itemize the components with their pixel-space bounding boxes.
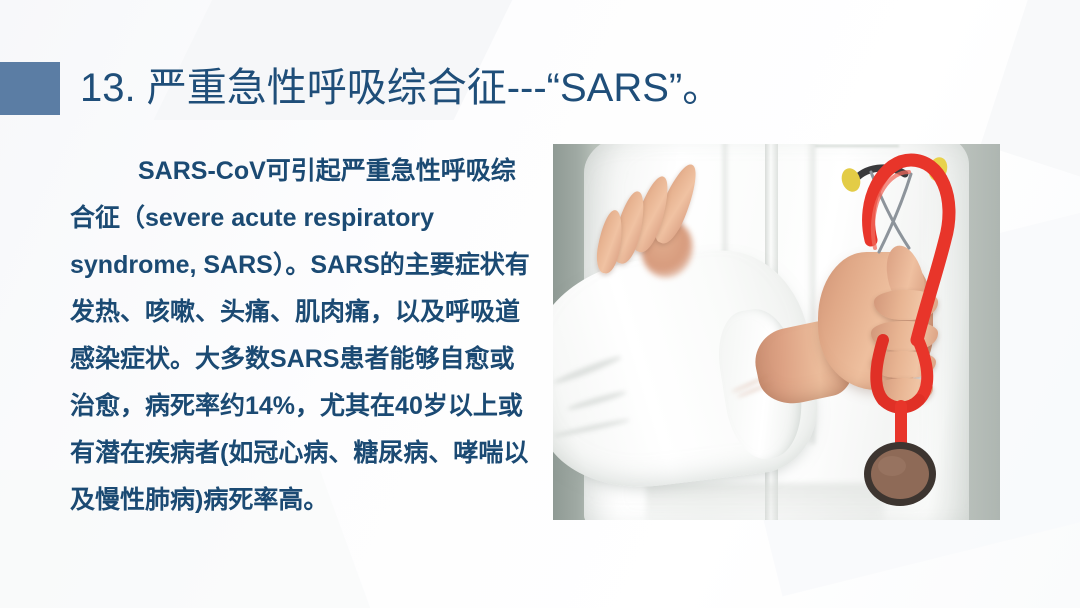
page-title: 13. 严重急性呼吸综合征---“SARS”。 (80, 60, 722, 116)
finger (877, 378, 933, 402)
sleeve-wrinkle (566, 389, 626, 411)
slide-canvas: 13. 严重急性呼吸综合征---“SARS”。 SARS-CoV可引起严重急性呼… (0, 0, 1080, 608)
sleeve-wrinkle (553, 417, 630, 438)
body-paragraph: SARS-CoV可引起严重急性呼吸综合征（severe acute respir… (70, 148, 530, 524)
right-hand-gripping-stethoscope (812, 242, 946, 415)
doctor-photo (553, 144, 1000, 520)
finger (874, 290, 938, 319)
coat-hem-shadow (646, 483, 884, 520)
finger (871, 321, 938, 350)
coat-pocket-edge (815, 145, 900, 167)
finger (871, 351, 935, 379)
title-accent-bar (0, 62, 60, 115)
sleeve-wrinkle (553, 354, 622, 386)
